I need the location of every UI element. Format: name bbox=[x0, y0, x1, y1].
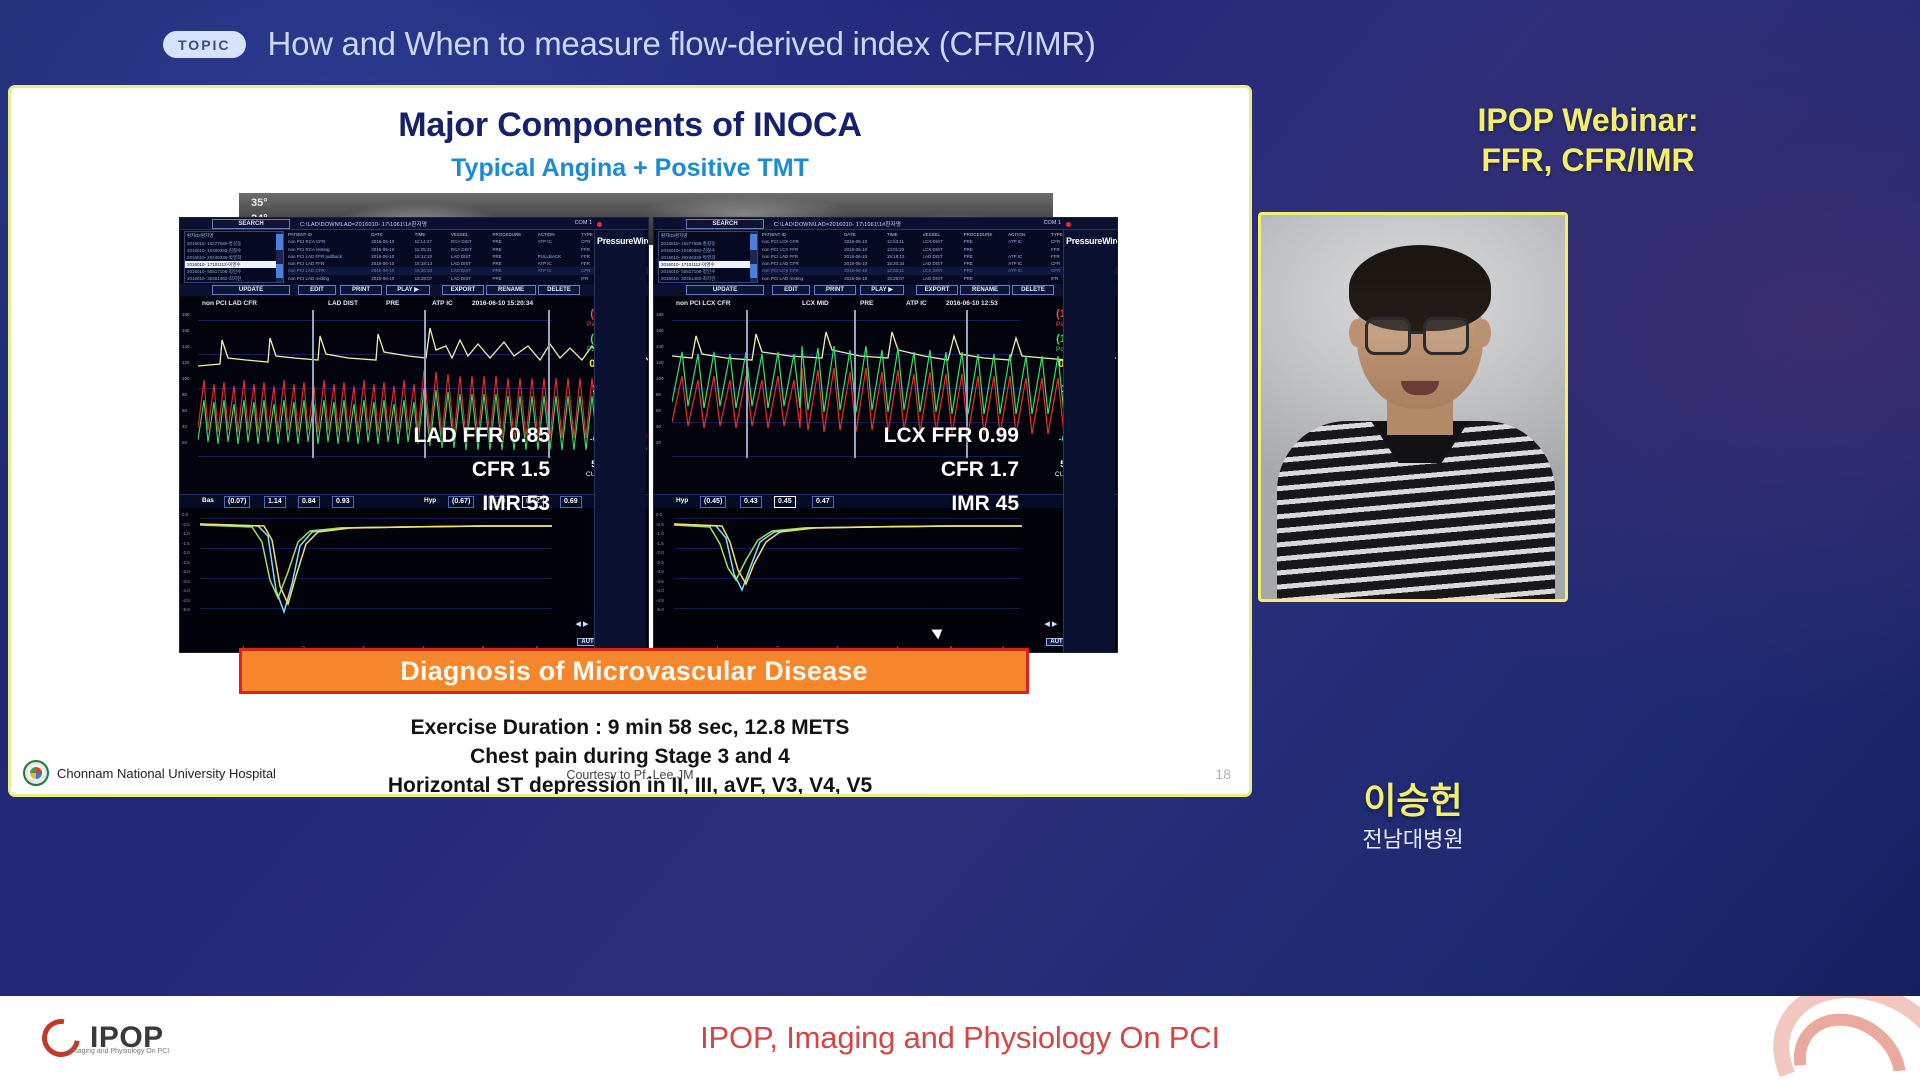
record-indicator-left bbox=[597, 222, 602, 227]
pressurewire-monitor-left[interactable]: SEARCH C:\LAD\DOWN\LAD=2016010- 17\1061\… bbox=[179, 217, 649, 653]
overlay-imr-right: IMR 45 bbox=[951, 492, 1019, 516]
overlay-ffr-left: LAD FFR 0.85 bbox=[413, 424, 550, 448]
file-path-right: C:\LAD\DOWN\LAD=2016010- 17\1061\1#환자명 bbox=[774, 220, 901, 228]
brand-strip-right: PressureWire bbox=[1063, 230, 1115, 652]
list-item[interactable]: 2016010- 30461482-최지현 bbox=[185, 275, 283, 282]
monitor-toolbar-left: UPDATE EDIT PRINT PLAY ▶ EXPORT RENAME D… bbox=[180, 284, 648, 296]
list-item-selected[interactable]: 2016010- 17101112-이영수 bbox=[659, 261, 757, 268]
play-button-left[interactable]: PLAY ▶ bbox=[386, 285, 430, 295]
list-item[interactable]: 2016010- 10480392-김철수 bbox=[659, 247, 757, 254]
list-item[interactable]: 2016010- 30461482-최지현 bbox=[659, 275, 757, 282]
cfr-curves-right bbox=[674, 512, 1029, 642]
record-indicator-right bbox=[1066, 222, 1071, 227]
wave-label-vessel-right: LCX MID bbox=[802, 300, 829, 307]
slide-subtitle: Typical Angina + Positive TMT bbox=[11, 154, 1249, 183]
col-action: ACTION bbox=[1008, 231, 1051, 238]
trend-value: (0.45) bbox=[700, 496, 726, 508]
trend-tag-hyp-left: Hyp bbox=[424, 497, 436, 504]
pressurewire-monitor-right[interactable]: SEARCH C:\LAD\DOWN\LAD=2016010- 17\1061\… bbox=[653, 217, 1118, 653]
wave-label-drug-right: ATP IC bbox=[906, 300, 927, 307]
topic-badge: TOPIC bbox=[163, 31, 246, 58]
glasses-bridge-icon bbox=[1411, 331, 1423, 334]
delete-button-left[interactable]: DELETE bbox=[538, 285, 580, 295]
wave-y-axis-right: 180 160 140 120 100 80 60 40 20 bbox=[656, 312, 672, 456]
trend-value: (0.07) bbox=[224, 496, 250, 508]
search-button-right[interactable]: SEARCH bbox=[686, 219, 764, 229]
patient-list-scrollbar-right[interactable] bbox=[750, 232, 757, 282]
wave-label-time-left: 2016-06-10 15:20:34 bbox=[472, 300, 533, 307]
print-button-right[interactable]: PRINT bbox=[814, 285, 856, 295]
ipop-ring-icon bbox=[35, 1012, 88, 1065]
record-panel-right: 환자ID/환자명 2016010- 16277686-홍길동 2016010- … bbox=[656, 231, 1118, 283]
cfr-trend-plot-right: 0.0 -0.5 -1.0 -1.5 -2.0 -2.5 -3.0 -3.5 -… bbox=[654, 508, 1117, 653]
record-panel-left: 환자ID/환자명 2016010- 16277686-홍길동 2016010- … bbox=[182, 231, 649, 283]
trend-tag-bas-left: Bas bbox=[202, 497, 214, 504]
webinar-title-line2: FFR, CFR/IMR bbox=[1258, 140, 1918, 180]
wave-label-vessel-left: LAD DIST bbox=[328, 300, 358, 307]
update-button-left[interactable]: UPDATE bbox=[212, 285, 290, 295]
list-item[interactable]: 2016010- 50517108-정민수 bbox=[659, 268, 757, 275]
patient-list-header-left: 환자ID/환자명 bbox=[185, 232, 283, 240]
col-patient-id: PATIENT ID bbox=[288, 231, 371, 238]
rename-button-right[interactable]: RENAME bbox=[960, 285, 1010, 295]
trend-value: 1.14 bbox=[264, 496, 286, 508]
delete-button-right[interactable]: DELETE bbox=[1012, 285, 1054, 295]
glasses-lens-right-icon bbox=[1423, 317, 1469, 355]
cfr-trend-plot-left: 0.0 -0.5 -1.0 -1.5 -2.0 -2.5 -3.0 -3.5 -… bbox=[180, 508, 648, 653]
print-button-left[interactable]: PRINT bbox=[340, 285, 382, 295]
lower-y-axis-right: 0.0 -0.5 -1.0 -1.5 -2.0 -2.5 -3.0 -3.5 -… bbox=[656, 512, 674, 617]
trend-band-right: Hyp (0.45) 0.43 0.45 0.47 bbox=[654, 494, 1117, 508]
wave-label-time-right: 2016-06-10 12:53 bbox=[946, 300, 998, 307]
lower-y-axis-left: 0.0 -0.5 -1.0 -1.5 -2.0 -2.5 -3.0 -3.5 -… bbox=[182, 512, 200, 617]
brand-label-right: PressureWire bbox=[1064, 230, 1115, 252]
list-item-selected[interactable]: 2016010- 17101112-이영수 bbox=[185, 261, 283, 268]
overlay-cfr-left: CFR 1.5 bbox=[472, 458, 550, 482]
edit-button-right[interactable]: EDIT bbox=[772, 285, 810, 295]
ipop-logo-subtitle: Imaging and Physiology On PCI bbox=[70, 1048, 169, 1055]
brand-label-left: PressureWire bbox=[595, 230, 646, 252]
page-title: How and When to measure flow-derived ind… bbox=[268, 25, 1096, 63]
col-action: ACTION bbox=[538, 231, 581, 238]
col-date: DATE bbox=[844, 231, 887, 238]
ipop-tagline: IPOP, Imaging and Physiology On PCI bbox=[700, 1020, 1220, 1056]
angio-tick-1: 35° bbox=[251, 197, 268, 209]
speaker-name: 이승헌 bbox=[1258, 772, 1568, 824]
wave-label-phase-right: PRE bbox=[860, 300, 873, 307]
slide-footer: Chonnam National University Hospital Cou… bbox=[11, 752, 1249, 794]
col-time: TIME bbox=[887, 231, 923, 238]
col-procedure: PROCEDURE bbox=[964, 231, 1009, 238]
trend-value: 0.69 bbox=[560, 496, 582, 508]
wave-label-study-left: non PCI LAD CFR bbox=[202, 300, 257, 307]
diagnosis-banner-text: Diagnosis of Microvascular Disease bbox=[400, 656, 868, 687]
patient-list-header-right: 환자ID/환자명 bbox=[659, 232, 757, 240]
trend-band-left: Bas (0.07) 1.14 0.84 0.93 Hyp (0.67) 0.6… bbox=[180, 494, 648, 508]
col-date: DATE bbox=[371, 231, 414, 238]
list-item[interactable]: 2016010- 50517108-정민수 bbox=[185, 268, 283, 275]
wave-label-phase-left: PRE bbox=[386, 300, 399, 307]
glasses-lens-left-icon bbox=[1365, 317, 1411, 355]
trend-value: (0.67) bbox=[448, 496, 474, 508]
export-button-right[interactable]: EXPORT bbox=[916, 285, 958, 295]
trend-value: 0.47 bbox=[812, 496, 834, 508]
monitor-topbar-left: SEARCH C:\LAD\DOWN\LAD=2016010- 17\1061\… bbox=[180, 218, 648, 230]
bottom-branding-bar: IPOP Imaging and Physiology On PCI IPOP,… bbox=[0, 996, 1920, 1080]
com-status-right: COM 1 bbox=[1044, 220, 1061, 226]
search-button-left[interactable]: SEARCH bbox=[212, 219, 290, 229]
webinar-title: IPOP Webinar: FFR, CFR/IMR bbox=[1258, 100, 1918, 180]
patient-list-right[interactable]: 환자ID/환자명 2016010- 16277686-홍길동 2016010- … bbox=[658, 231, 758, 283]
wave-label-drug-left: ATP IC bbox=[432, 300, 453, 307]
com-status-left: COM 1 bbox=[575, 220, 592, 226]
play-button-right[interactable]: PLAY ▶ bbox=[860, 285, 904, 295]
trend-value-highlighted: 0.45 bbox=[774, 496, 796, 508]
brand-strip-left: PressureWire bbox=[594, 230, 646, 652]
courtesy-text: Courtesy to Pf. Lee JM bbox=[11, 768, 1249, 782]
wave-label-study-right: non PCI LCX CFR bbox=[676, 300, 731, 307]
monitor-toolbar-right: UPDATE EDIT PRINT PLAY ▶ EXPORT RENAME D… bbox=[654, 284, 1117, 296]
overlay-imr-left: IMR 53 bbox=[482, 492, 550, 516]
patient-list-scrollbar-left[interactable] bbox=[276, 232, 283, 282]
rename-button-left[interactable]: RENAME bbox=[486, 285, 536, 295]
list-item[interactable]: 2016010- 16277686-홍길동 bbox=[185, 240, 283, 247]
trend-value: 0.93 bbox=[332, 496, 354, 508]
list-item[interactable]: 2016010- 20246330-박영희 bbox=[659, 254, 757, 261]
speaker-organization: 전남대병원 bbox=[1258, 822, 1568, 854]
col-vessel: VESSEL bbox=[451, 231, 493, 238]
speaker-ear-right bbox=[1475, 319, 1491, 347]
col-time: TIME bbox=[415, 231, 451, 238]
monitor-topbar-right: SEARCH C:\LAD\DOWN\LAD=2016010- 17\1061\… bbox=[654, 218, 1117, 230]
cfr-curves-left bbox=[200, 512, 560, 642]
export-button-left[interactable]: EXPORT bbox=[442, 285, 484, 295]
speaker-ear-left bbox=[1349, 319, 1365, 347]
col-procedure: PROCEDURE bbox=[492, 231, 537, 238]
speaker-video-tile[interactable] bbox=[1258, 212, 1568, 602]
trend-value: 0.84 bbox=[298, 496, 320, 508]
webinar-title-line1: IPOP Webinar: bbox=[1258, 100, 1918, 140]
patient-list-left[interactable]: 환자ID/환자명 2016010- 16277686-홍길동 2016010- … bbox=[184, 231, 284, 283]
col-patient-id: PATIENT ID bbox=[762, 231, 844, 238]
file-path-left: C:\LAD\DOWN\LAD=2016010- 17\1061\1#환자명 bbox=[300, 220, 427, 228]
col-vessel: VESSEL bbox=[923, 231, 964, 238]
list-item[interactable]: 2016010- 10480392-김철수 bbox=[185, 247, 283, 254]
slide-title: Major Components of INOCA bbox=[11, 106, 1249, 145]
trend-tag-hyp-right: Hyp bbox=[676, 497, 688, 504]
page-number: 18 bbox=[1215, 766, 1231, 782]
slide-panel[interactable]: Major Components of INOCA Typical Angina… bbox=[8, 85, 1252, 797]
fact-line-1: Exercise Duration : 9 min 58 sec, 12.8 M… bbox=[11, 713, 1249, 742]
page-header: TOPIC How and When to measure flow-deriv… bbox=[0, 0, 1920, 88]
list-item[interactable]: 2016010- 20246330-박영희 bbox=[185, 254, 283, 261]
update-button-right[interactable]: UPDATE bbox=[686, 285, 764, 295]
trend-value: 0.43 bbox=[740, 496, 762, 508]
edit-button-left[interactable]: EDIT bbox=[298, 285, 336, 295]
list-item[interactable]: 2016010- 16277686-홍길동 bbox=[659, 240, 757, 247]
overlay-cfr-right: CFR 1.7 bbox=[941, 458, 1019, 482]
wave-y-axis-left: 180 160 140 120 100 80 60 40 20 bbox=[182, 312, 198, 456]
overlay-ffr-right: LCX FFR 0.99 bbox=[884, 424, 1019, 448]
diagnosis-banner: Diagnosis of Microvascular Disease bbox=[239, 648, 1029, 694]
